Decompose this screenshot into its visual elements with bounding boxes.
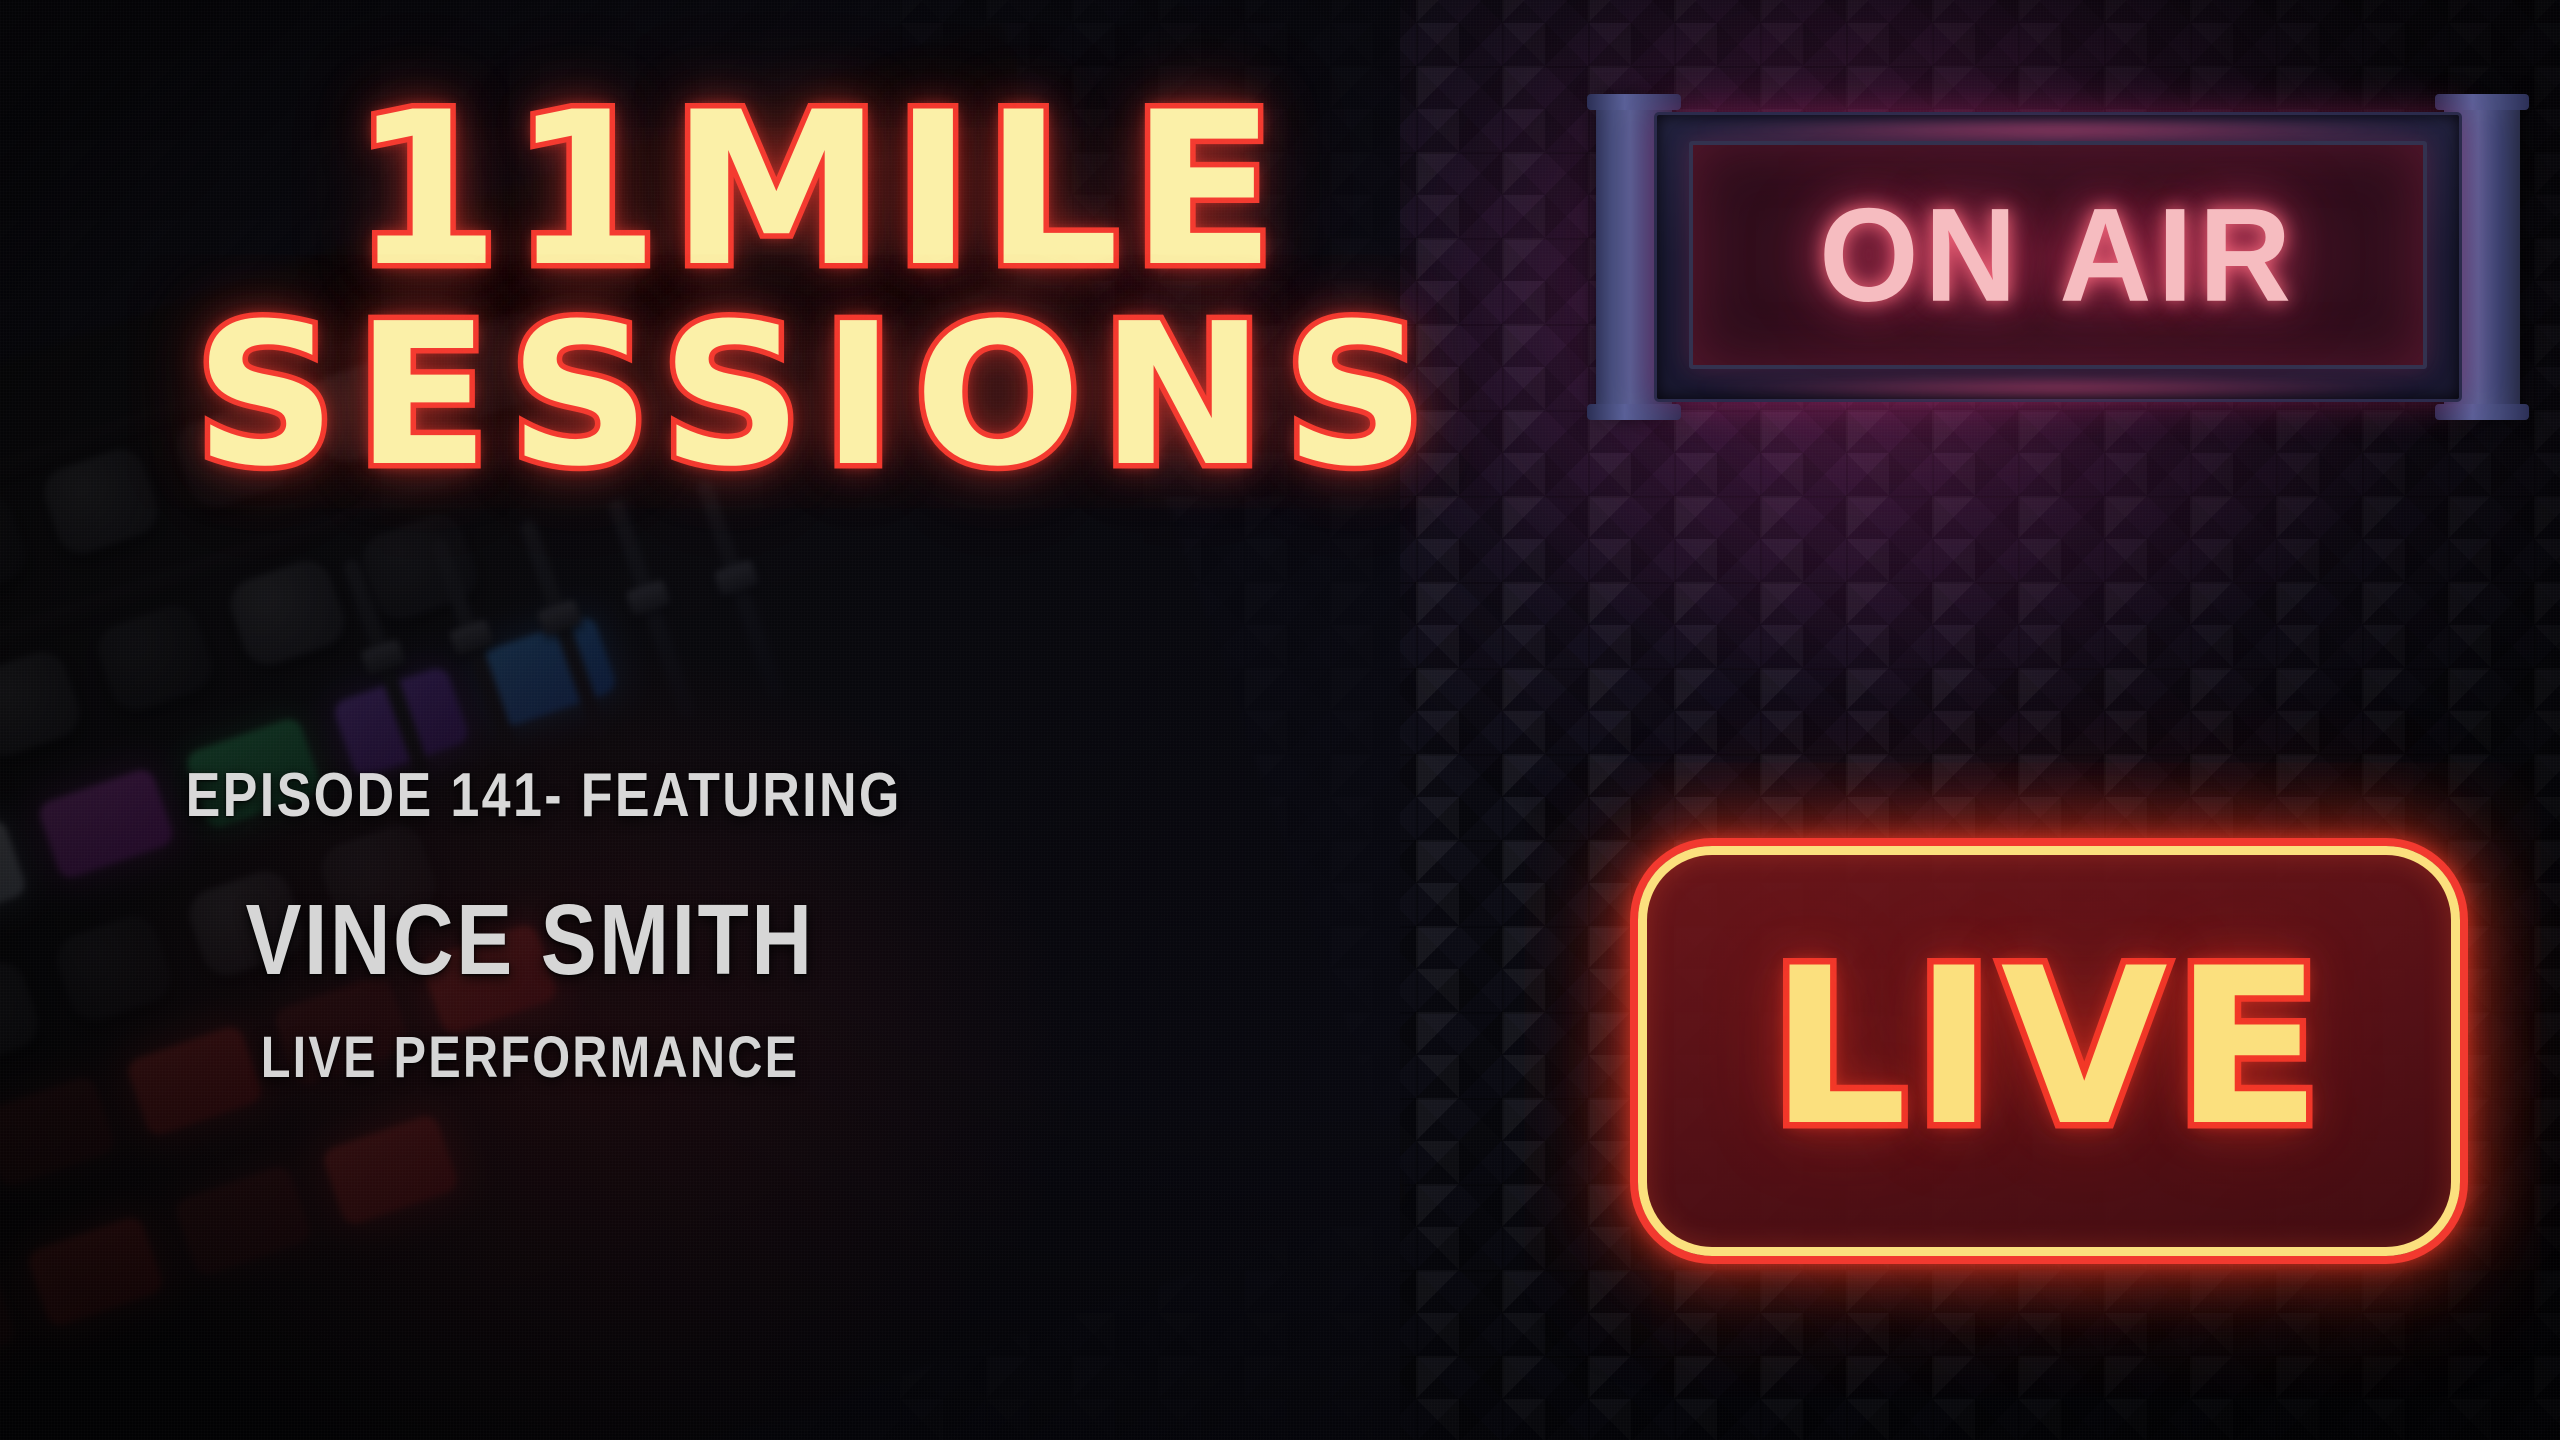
- show-title: 11MILE SESSIONS: [120, 86, 1520, 492]
- console-pad-white: [0, 817, 28, 932]
- on-air-light-bleed-bottom: [1697, 379, 2419, 397]
- on-air-panel: ON AIR: [1689, 141, 2427, 369]
- console-knob: [0, 956, 45, 1073]
- episode-line: EPISODE 141- FEATURING: [186, 760, 875, 831]
- on-air-light-bleed-top: [1697, 121, 2419, 139]
- live-badge-label: LIVE: [1638, 846, 2460, 1256]
- on-air-sign: ON AIR: [1596, 98, 2520, 416]
- title-line-one: 11MILE: [120, 86, 1520, 294]
- artist-name: VINCE SMITH: [186, 883, 875, 998]
- episode-details: EPISODE 141- FEATURING VINCE SMITH LIVE …: [120, 760, 940, 1091]
- console-pad-red: [0, 1265, 18, 1380]
- console-knob: [0, 646, 86, 763]
- live-neon-badge: LIVE: [1638, 846, 2460, 1256]
- title-line-two: SESSIONS: [120, 300, 1520, 492]
- console-knob: [0, 489, 32, 606]
- on-air-label: ON AIR: [1819, 179, 2297, 332]
- performance-type: LIVE PERFORMANCE: [186, 1024, 875, 1091]
- on-air-housing: ON AIR: [1654, 112, 2462, 402]
- podcast-cover-artwork: 11MILE SESSIONS EPISODE 141- FEATURING V…: [0, 0, 2560, 1440]
